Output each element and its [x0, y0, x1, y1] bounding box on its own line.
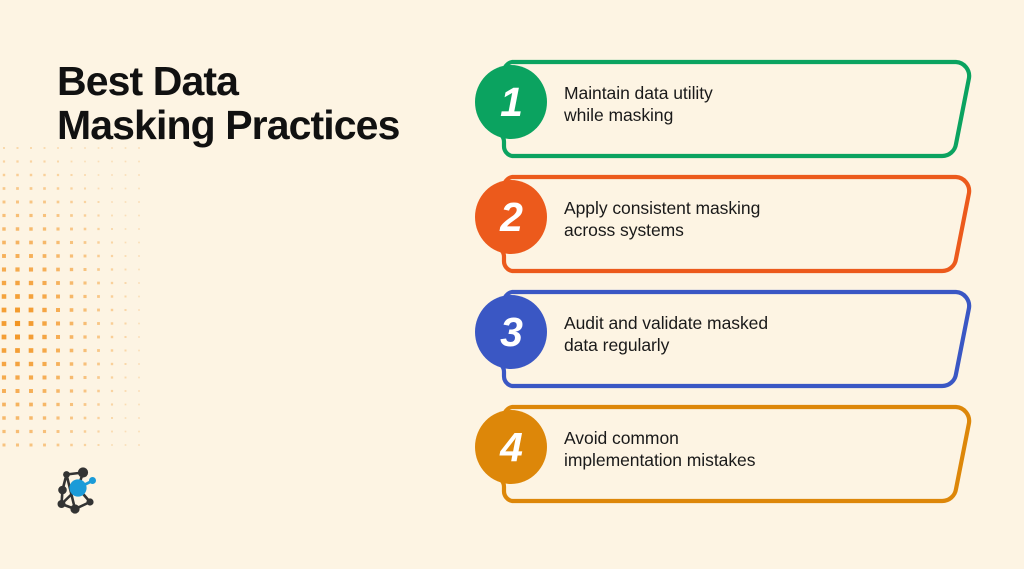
- card-number: 3: [475, 296, 547, 368]
- card-text: Maintain data utility while masking: [564, 82, 954, 127]
- card-number: 2: [475, 181, 547, 253]
- card-text: Audit and validate masked data regularly: [564, 312, 954, 357]
- practice-card-avoid-common-mistakes[interactable]: 4Avoid common implementation mistakes: [470, 401, 980, 511]
- decorative-dot-pattern: [0, 140, 150, 460]
- title-block: Best Data Masking Practices: [57, 60, 457, 148]
- practice-card-maintain-data-utility[interactable]: 1Maintain data utility while masking: [470, 56, 980, 166]
- card-text: Avoid common implementation mistakes: [564, 427, 954, 472]
- card-text: Apply consistent masking across systems: [564, 197, 954, 242]
- card-number: 4: [475, 411, 547, 483]
- infographic-canvas: Best Data Masking Practices 1Maintain da…: [0, 0, 1024, 569]
- card-number: 1: [475, 66, 547, 138]
- logo-accent-cluster: [69, 477, 96, 497]
- practice-card-apply-consistent-masking[interactable]: 2Apply consistent masking across systems: [470, 171, 980, 281]
- network-nodes-logo: [53, 466, 103, 516]
- page-title: Best Data Masking Practices: [57, 60, 457, 148]
- practice-card-audit-and-validate[interactable]: 3Audit and validate masked data regularl…: [470, 286, 980, 396]
